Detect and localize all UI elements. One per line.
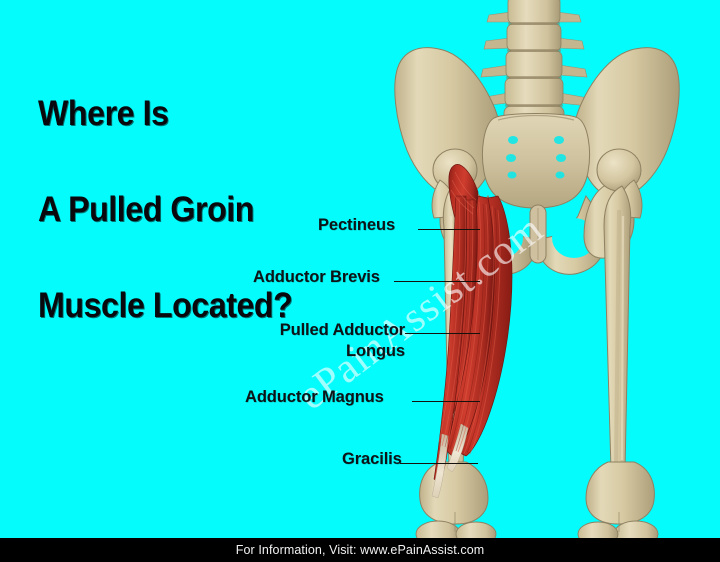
sacrum — [482, 114, 589, 209]
leader-line-adductor-brevis — [394, 281, 480, 282]
label-adductor-longus-line-1: Pulled Adductor — [280, 321, 405, 339]
footer-text: For Information, Visit: www.ePainAssist.… — [236, 543, 485, 557]
leader-line-adductor-magnus — [412, 401, 480, 402]
footer-bar: For Information, Visit: www.ePainAssist.… — [0, 538, 720, 562]
label-adductor-magnus: Adductor Magnus — [245, 388, 384, 407]
leader-line-gracilis — [400, 463, 478, 464]
femoral-condyles-right — [586, 462, 654, 524]
label-pectineus: Pectineus — [318, 216, 395, 235]
label-adductor-brevis: Adductor Brevis — [253, 268, 380, 287]
title-line-1: Where Is — [38, 90, 360, 138]
title-line-2: A Pulled Groin — [38, 186, 360, 234]
label-adductor-longus-line-2: Longus — [346, 342, 405, 360]
infographic-canvas: ePainAssist.com Where Is A Pulled Groin … — [0, 0, 720, 562]
leader-line-adductor-longus — [405, 333, 480, 334]
femoral-condyles-left — [420, 462, 488, 524]
label-adductor-longus: Pulled Adductor Longus — [255, 320, 405, 362]
leader-line-pectineus — [418, 229, 480, 230]
label-gracilis: Gracilis — [342, 450, 402, 469]
